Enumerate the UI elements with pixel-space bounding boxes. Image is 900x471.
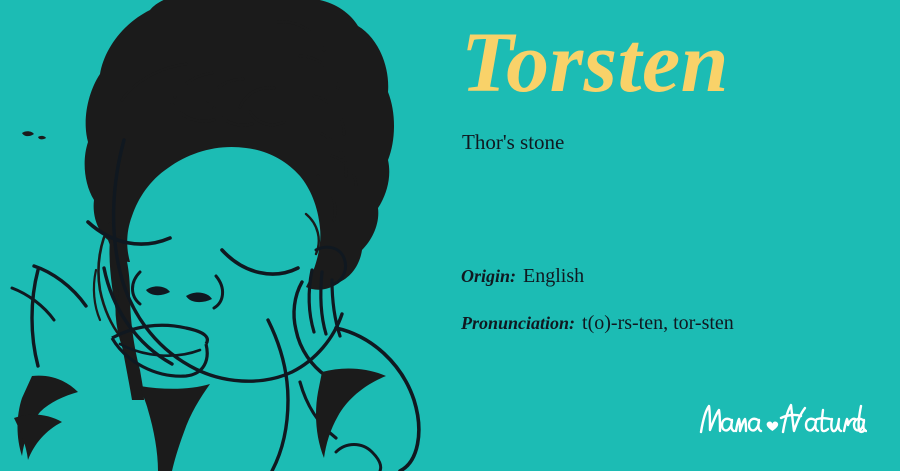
logo-letter-N	[783, 405, 805, 432]
shoulder-left	[34, 266, 86, 306]
detail-row-origin: Origin:English	[461, 264, 881, 290]
logo-letter-M	[701, 406, 720, 432]
illustration-artwork	[12, 0, 419, 471]
pronunciation-label: Pronunciation:	[461, 313, 575, 333]
nose-tip	[214, 276, 223, 308]
detail-row-pronunciation: Pronunciation:t(o)-rs-ten, tor-sten	[461, 311, 881, 337]
neck-shadow	[140, 384, 210, 471]
right-eye-closed	[222, 250, 298, 274]
pronunciation-value: t(o)-rs-ten, tor-sten	[575, 312, 734, 334]
hair-speck-left	[22, 131, 34, 136]
nostril-left	[146, 286, 170, 295]
neck-line-left	[32, 270, 38, 366]
knuckle-arc	[336, 445, 381, 471]
logo-script-strokes	[701, 405, 866, 432]
origin-value: English	[516, 265, 584, 287]
logo-letter-a2	[749, 419, 761, 431]
logo-letter-a1	[722, 419, 734, 431]
name-meaning: Thor's stone	[462, 128, 564, 156]
logo-letter-a3	[806, 419, 818, 431]
page-title: Torsten	[461, 14, 729, 110]
heart-icon	[767, 421, 779, 431]
nostril-right	[186, 292, 212, 302]
nose-bridge	[133, 272, 141, 304]
mama-natural-logo[interactable]: Mama Natural	[697, 398, 867, 442]
baby-name-card: Line drawing of a baby with curly hair r…	[0, 0, 900, 471]
logo-letter-t-cross	[817, 418, 830, 419]
hair-mass	[85, 0, 394, 290]
logo-letter-u	[831, 419, 841, 431]
baby-illustration: Line drawing of a baby with curly hair r…	[0, 0, 440, 471]
origin-label: Origin:	[461, 266, 516, 286]
logo-letter-m	[736, 419, 746, 431]
arm-inner	[268, 320, 288, 471]
name-details-list: Origin:English Pronunciation:t(o)-rs-ten…	[461, 264, 881, 358]
hair-speck-left-2	[38, 136, 46, 139]
logo-letter-t	[822, 410, 828, 431]
